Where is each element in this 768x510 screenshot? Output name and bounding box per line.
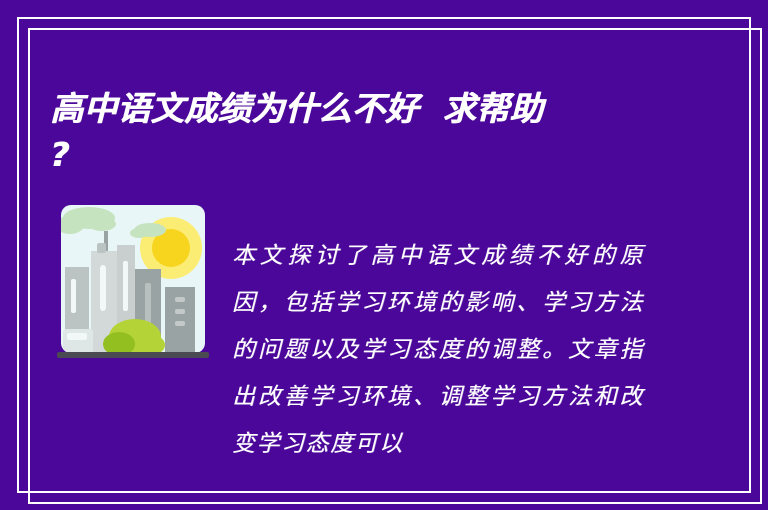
city-skyline-illustration	[57, 203, 209, 363]
window-dot	[175, 321, 185, 326]
building-low-left	[63, 329, 93, 353]
window-strip	[67, 333, 87, 340]
window-strip	[100, 265, 106, 311]
building-far-right	[165, 287, 195, 353]
article-card: 高中语文成绩为什么不好 求帮助 ?	[0, 0, 768, 510]
article-summary: 本文探讨了高中语文成绩不好的原因，包括学习环境的影响、学习方法的问题以及学习态度…	[232, 233, 644, 468]
window-strip	[71, 279, 76, 313]
window-dot	[175, 309, 185, 314]
ground-bar	[57, 352, 209, 358]
page-title: 高中语文成绩为什么不好 求帮助 ?	[50, 86, 710, 178]
window-strip	[123, 261, 128, 311]
rooftop-box	[97, 243, 106, 253]
window-strip	[145, 283, 151, 325]
city-skyline-icon	[57, 203, 209, 363]
window-dot	[175, 297, 185, 302]
